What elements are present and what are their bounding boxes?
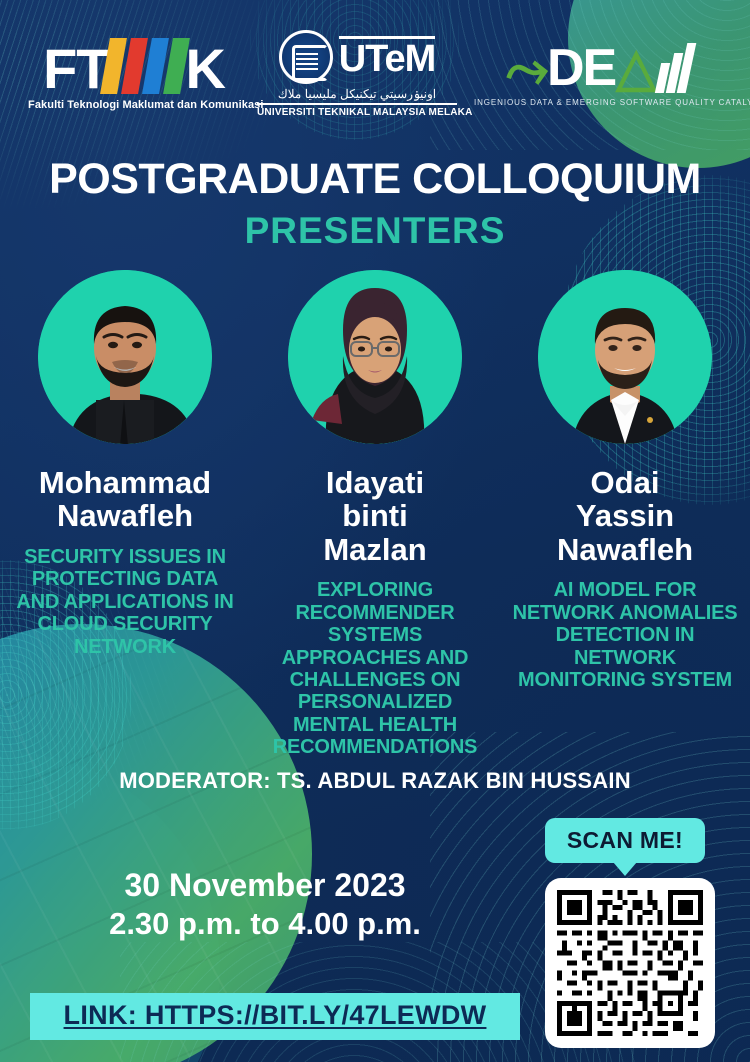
presenter-card: Odai Yassin Nawafleh AI MODEL FOR NETWOR…: [509, 270, 741, 691]
poster-canvas: FT K Fakulti Teknologi Maklumat dan Komu…: [0, 0, 750, 1062]
qr-code-icon[interactable]: [545, 878, 715, 1048]
presenter-topic: EXPLORING RECOMMENDER SYSTEMS APPROACHES…: [259, 579, 491, 758]
photo-mohammad-nawafleh: [38, 270, 212, 444]
presenter-topic: SECURITY ISSUES IN PROTECTING DATA AND A…: [9, 546, 241, 658]
event-time: 2.30 p.m. to 4.00 p.m.: [40, 905, 490, 944]
utem-full-name: UNIVERSITI TEKNIKAL MALAYSIA MELAKA: [257, 103, 457, 118]
presenter-card: Idayati binti Mazlan EXPLORING RECOMMEND…: [259, 270, 491, 759]
avatar: [538, 270, 712, 444]
ftmk-letters-ft: FT: [43, 37, 109, 100]
idea-wordmark: ⤳ DE △: [474, 41, 722, 95]
idea-leaf-icon: ⤳: [501, 40, 549, 99]
utem-logo: UTeM اونيۏرسيتي تيكنيكل مليسيا ملاك UNIV…: [257, 30, 457, 118]
event-datetime: 30 November 2023 2.30 p.m. to 4.00 p.m.: [40, 865, 490, 944]
avatar: [38, 270, 212, 444]
presenter-name: Odai Yassin Nawafleh: [509, 466, 741, 566]
ftmk-wordmark: FT K: [43, 38, 225, 97]
ftmk-letter-k: K: [185, 37, 224, 100]
event-date: 30 November 2023: [40, 865, 490, 905]
utem-wordmark: UTeM: [339, 36, 436, 77]
utem-jawi-text: اونيۏرسيتي تيكنيكل مليسيا ملاك: [257, 87, 457, 101]
scan-me-callout: SCAN ME!: [545, 818, 705, 863]
presenters-row: Mohammad Nawafleh SECURITY ISSUES IN PRO…: [0, 270, 750, 759]
moderator-line: MODERATOR: TS. ABDUL RAZAK BIN HUSSAIN: [0, 768, 750, 794]
qr-code-svg: [557, 890, 703, 1036]
idea-letters: DE: [547, 42, 615, 94]
registration-link[interactable]: LINK: HTTPS://BIT.LY/47LEWDW: [30, 993, 520, 1040]
idea-bars-icon: [658, 43, 691, 93]
logo-row: FT K Fakulti Teknologi Maklumat dan Komu…: [0, 22, 750, 126]
ftmk-color-bars: [105, 38, 189, 94]
idea-letter-a-green: △: [616, 42, 654, 94]
avatar: [288, 270, 462, 444]
utem-mark-row: UTeM: [257, 30, 457, 84]
photo-idayati-binti-mazlan: [288, 270, 462, 444]
page-title: POSTGRADUATE COLLOQUIUM: [0, 155, 750, 204]
ftmk-logo: FT K Fakulti Teknologi Maklumat dan Komu…: [28, 38, 240, 111]
photo-odai-yassin-nawafleh: [538, 270, 712, 444]
presenter-card: Mohammad Nawafleh SECURITY ISSUES IN PRO…: [9, 270, 241, 658]
presenter-name: Idayati binti Mazlan: [259, 466, 491, 566]
utem-seal-icon: [279, 30, 333, 84]
presenter-name: Mohammad Nawafleh: [9, 466, 241, 533]
idea-logo: ⤳ DE △ INGENIOUS DATA & EMERGING SOFTWAR…: [474, 41, 722, 107]
ftmk-subtitle: Fakulti Teknologi Maklumat dan Komunikas…: [28, 99, 240, 111]
presenter-topic: AI MODEL FOR NETWORK ANOMALIES DETECTION…: [509, 579, 741, 691]
page-subtitle: PRESENTERS: [0, 210, 750, 252]
